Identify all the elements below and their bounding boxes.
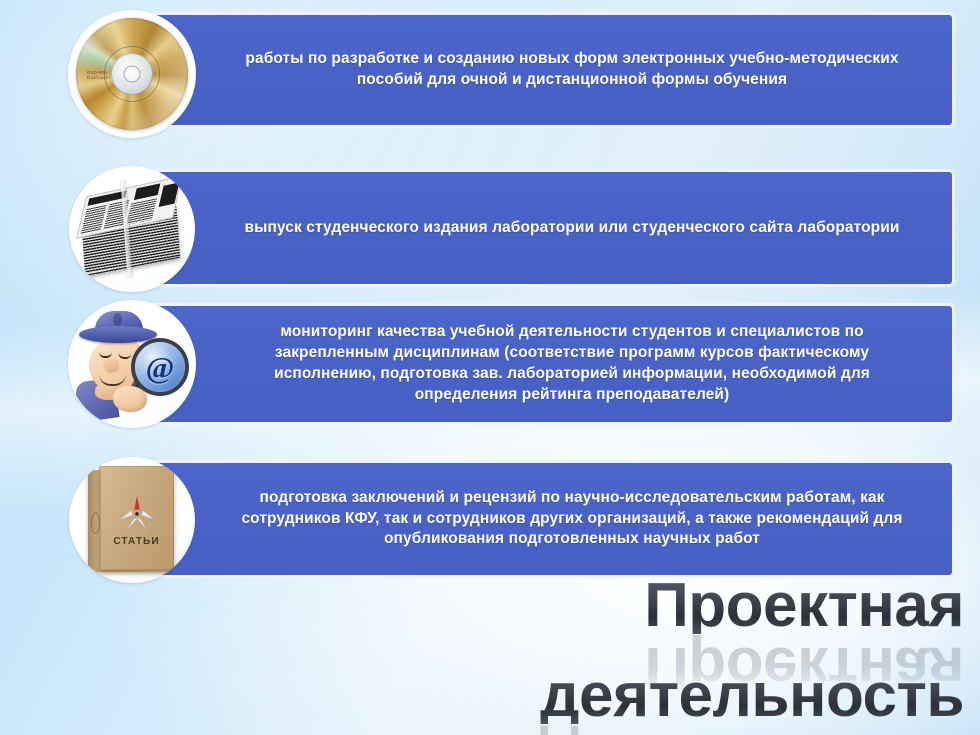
detective-hand — [113, 386, 147, 412]
icon-plate-3: @ — [68, 300, 196, 428]
detective-magnifier-icon: @ — [73, 308, 191, 420]
detective-hat-brim — [79, 326, 157, 343]
banner-bar-3[interactable]: мониторинг качества учебной деятельности… — [145, 303, 955, 425]
content-item-2: выпуск студенческого издания лаборатории… — [60, 166, 980, 290]
banner-bar-1[interactable]: работы по разработке и созданию новых фо… — [145, 12, 955, 128]
content-item-4: подготовка заключений и рецензий по науч… — [60, 457, 980, 581]
icon-plate-2 — [69, 166, 195, 292]
banner-bar-2[interactable]: выпуск студенческого издания лаборатории… — [145, 169, 955, 287]
presentation-slide: работы по разработке и созданию новых фо… — [0, 0, 980, 735]
newspaper-stack-icon — [77, 177, 187, 280]
icon-plate-1: DVD+RW Dual Layer — [68, 10, 196, 138]
title-line-1: Проектная Проектная — [324, 577, 964, 639]
banner-text-2: выпуск студенческого издания лаборатории… — [167, 218, 934, 239]
content-item-3: мониторинг качества учебной деятельности… — [60, 300, 980, 428]
star-emblem-icon — [116, 492, 158, 534]
icon-plate-4: СТАТЬИ — [69, 457, 195, 583]
title-line-1-text: Проектная — [324, 577, 964, 634]
banner-text-3: мониторинг качества учебной деятельности… — [148, 322, 952, 405]
folder-front-cover: СТАТЬИ — [99, 466, 174, 570]
folder-label: СТАТЬИ — [99, 536, 174, 547]
banner-text-4: подготовка заключений и рецензий по науч… — [148, 488, 952, 550]
cd-center-hole — [124, 66, 141, 83]
articles-folder-icon: СТАТЬИ — [88, 466, 176, 574]
banner-bar-4[interactable]: подготовка заключений и рецензий по науч… — [145, 460, 955, 578]
slide-title: Проектная Проектная деятельность деятель… — [324, 577, 964, 729]
folder-spine — [88, 470, 101, 572]
banner-text-1: работы по разработке и созданию новых фо… — [148, 49, 952, 91]
at-symbol-icon: @ — [146, 352, 175, 383]
content-item-1: работы по разработке и созданию новых фо… — [60, 10, 980, 130]
cd-disc-icon: DVD+RW Dual Layer — [76, 18, 188, 130]
magnifier-lens: @ — [135, 342, 185, 392]
detective-nose — [103, 358, 119, 373]
title-line-2: деятельность деятельность — [324, 667, 964, 729]
title-line-2-text: деятельность — [324, 667, 964, 724]
